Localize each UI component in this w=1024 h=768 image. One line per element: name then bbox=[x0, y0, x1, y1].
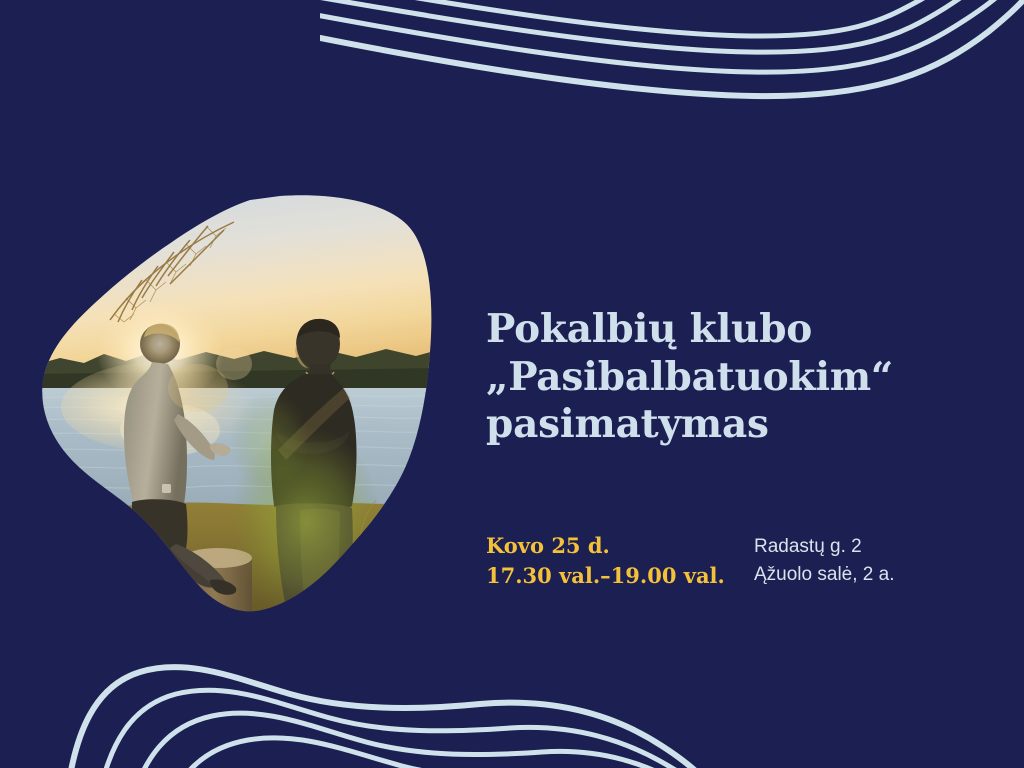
event-details: Kovo 25 d. 17.30 val.–19.00 val. Radastų… bbox=[486, 531, 986, 591]
headline-block: Pokalbių klubo „Pasibalbatuokim“ pasimat… bbox=[486, 306, 986, 449]
decorative-waves-top bbox=[320, 0, 1024, 112]
decorative-waves-bottom bbox=[0, 654, 710, 768]
headline-line-3: pasimatymas bbox=[486, 401, 986, 449]
event-location: Radastų g. 2 Ąžuolo salė, 2 a. bbox=[754, 531, 894, 589]
event-datetime: Kovo 25 d. 17.30 val.–19.00 val. bbox=[486, 531, 754, 591]
event-time: 17.30 val.–19.00 val. bbox=[486, 561, 754, 591]
event-date: Kovo 25 d. bbox=[486, 531, 754, 561]
headline-line-2: „Pasibalbatuokim“ bbox=[486, 354, 986, 402]
photo-lake-conversation bbox=[38, 192, 438, 617]
headline-line-1: Pokalbių klubo bbox=[486, 306, 986, 354]
page-title: Pokalbių klubo „Pasibalbatuokim“ pasimat… bbox=[486, 306, 986, 449]
poster-canvas: Pokalbių klubo „Pasibalbatuokim“ pasimat… bbox=[0, 0, 1024, 768]
event-venue: Ąžuolo salė, 2 a. bbox=[754, 561, 894, 589]
event-street: Radastų g. 2 bbox=[754, 533, 894, 561]
